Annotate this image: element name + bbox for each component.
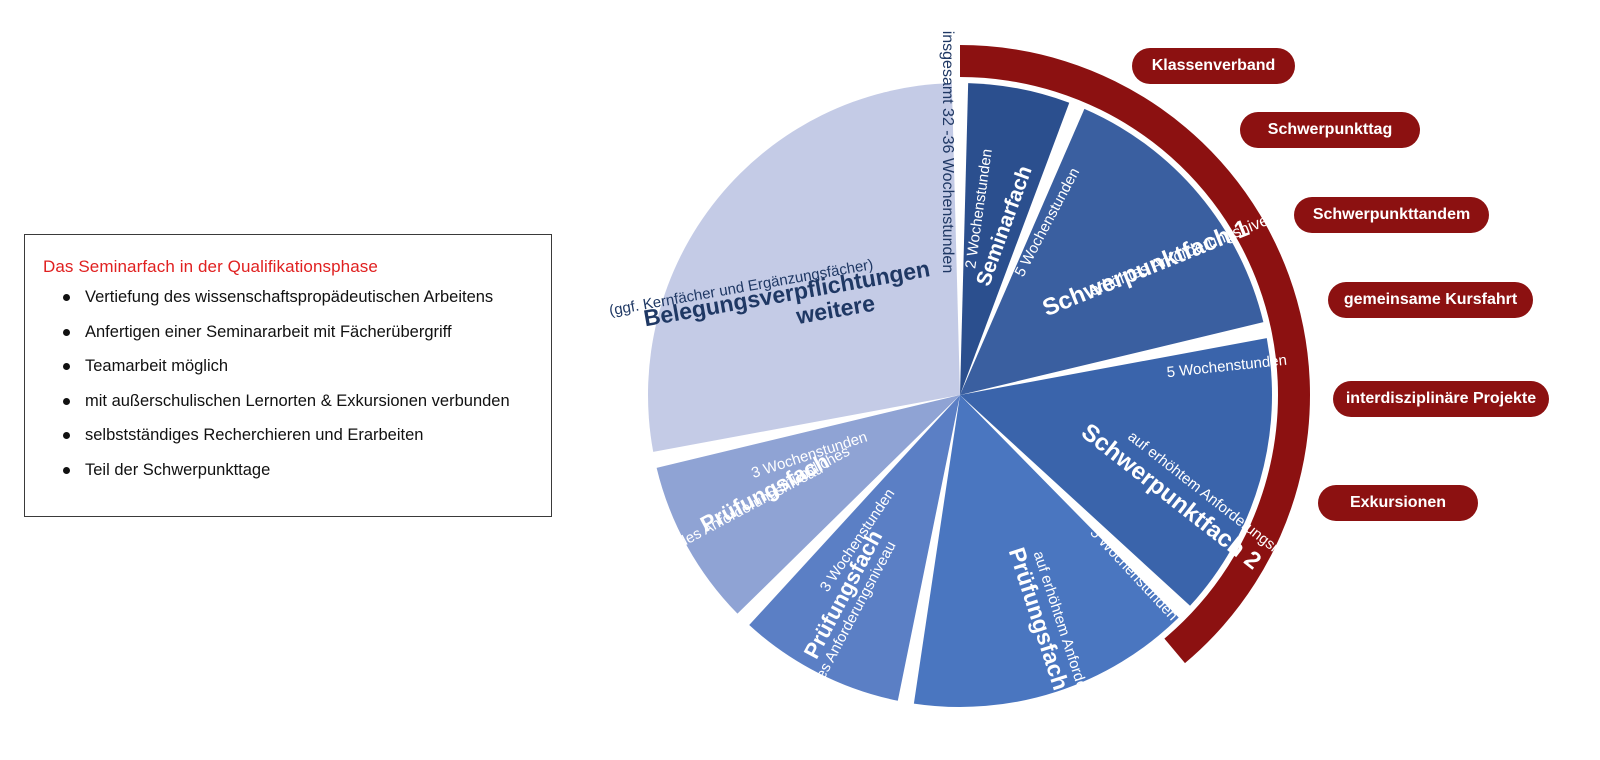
total-hours-label: insgesamt 32 -36 Wochenstunden [939, 31, 956, 274]
qualifikationsphase-pie-chart: Seminarfach2 WochenstundenSchwerpunktfac… [0, 0, 1600, 760]
pie-chart-svg: Seminarfach2 WochenstundenSchwerpunktfac… [0, 0, 1600, 760]
